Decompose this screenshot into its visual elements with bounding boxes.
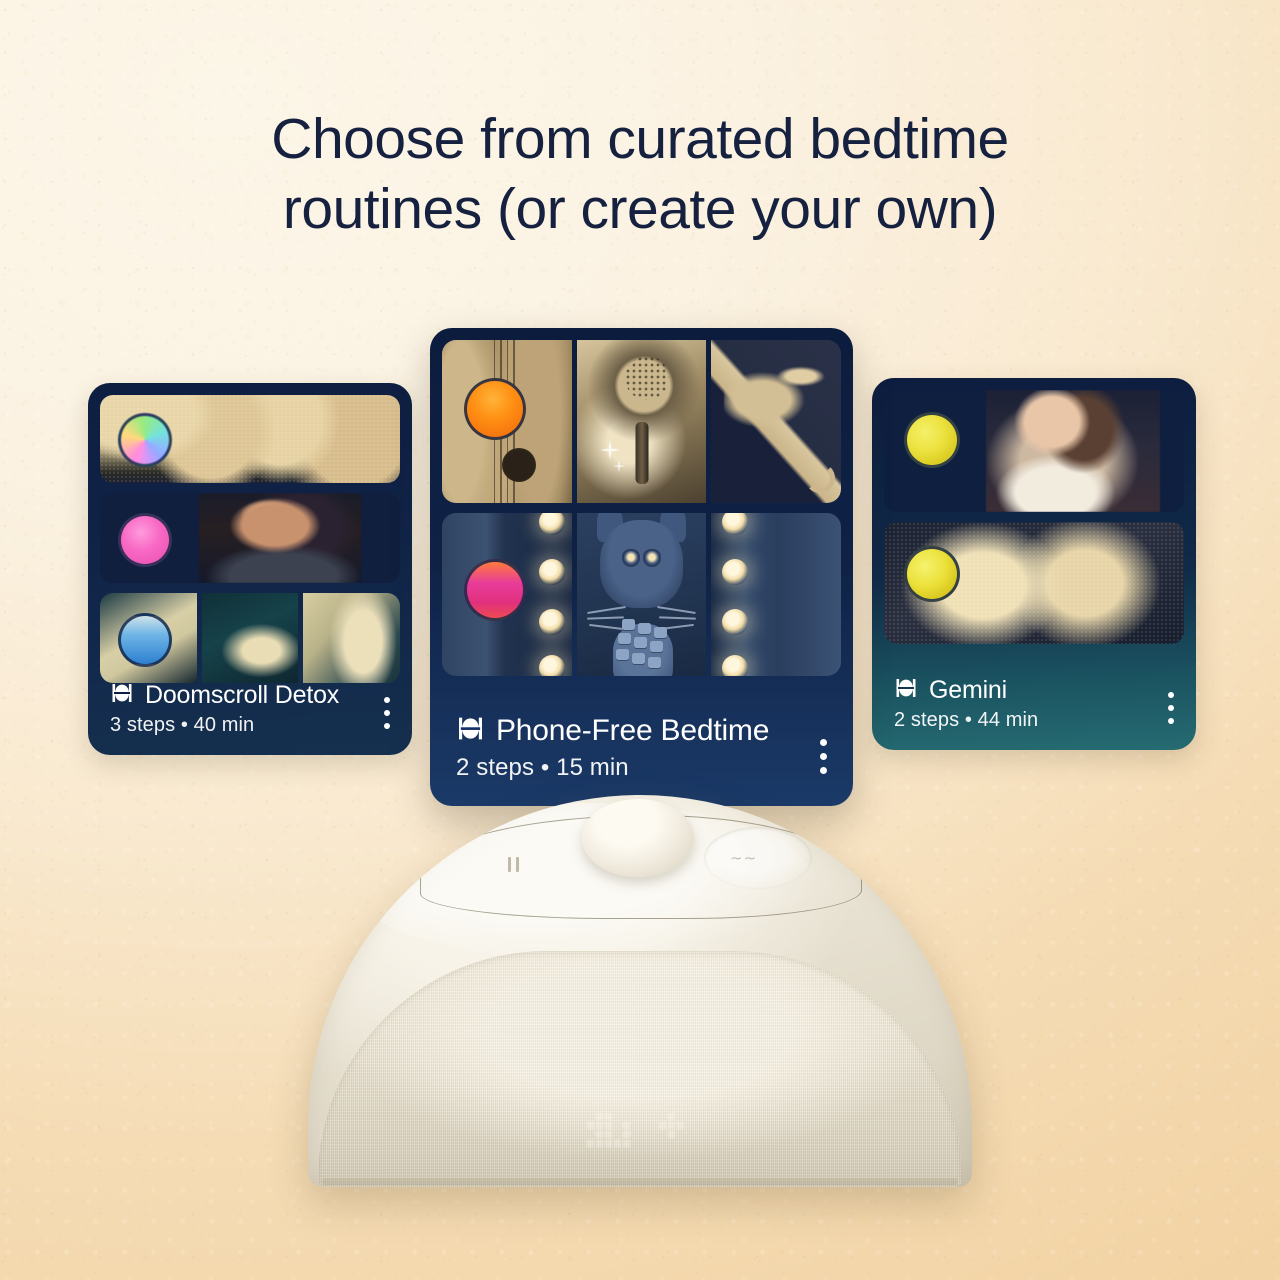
kebab-dot bbox=[1168, 718, 1174, 724]
artwork-row-music bbox=[442, 340, 841, 503]
card-footer: Doomscroll Detox 3 steps • 40 min bbox=[88, 681, 412, 755]
kebab-dot bbox=[384, 710, 390, 716]
card-title-row: Doomscroll Detox bbox=[110, 681, 390, 710]
artwork-tile-person-photo bbox=[884, 390, 1184, 512]
linen-fabric-grille bbox=[318, 951, 962, 1187]
card-footer: Phone-Free Bedtime 2 steps • 15 min bbox=[430, 714, 853, 806]
card-title-row: Gemini bbox=[894, 676, 1174, 705]
card-footer: Gemini 2 steps • 44 min bbox=[872, 676, 1196, 750]
cat-head bbox=[600, 520, 683, 608]
card-artwork-tiles bbox=[872, 378, 1196, 656]
artwork-tile-portrait bbox=[100, 493, 400, 583]
artwork-row-cat bbox=[442, 513, 841, 676]
dot-matrix-display bbox=[578, 1113, 702, 1147]
kebab-menu-icon[interactable] bbox=[384, 697, 390, 729]
artwork-row-person bbox=[884, 390, 1184, 512]
speaker-base-edge bbox=[322, 1178, 958, 1185]
accent-dot-blue bbox=[118, 613, 172, 667]
heart-sunglasses-icon bbox=[622, 549, 662, 567]
accent-dot-pink bbox=[118, 513, 172, 567]
artwork-tile-abstract-3 bbox=[303, 593, 400, 683]
card-artwork-tiles bbox=[430, 328, 853, 688]
card-title: Doomscroll Detox bbox=[145, 681, 339, 710]
card-title: Gemini bbox=[929, 676, 1007, 705]
card-meta: 3 steps • 40 min bbox=[110, 714, 390, 737]
artwork-tile-honey-drip bbox=[100, 395, 400, 483]
card-meta: 2 steps • 15 min bbox=[456, 754, 827, 782]
kebab-dot bbox=[820, 767, 827, 774]
artwork-tile-cat bbox=[577, 513, 707, 676]
headline-line-2: routines (or create your own) bbox=[0, 174, 1280, 244]
artwork-tile-abstract-1 bbox=[100, 593, 197, 683]
kebab-dot bbox=[384, 697, 390, 703]
bedside-smart-speaker: ∼∼ bbox=[308, 795, 972, 1187]
page-headline: Choose from curated bedtime routines (or… bbox=[0, 104, 1280, 244]
artwork-row-swirl bbox=[884, 522, 1184, 644]
artwork-tile-abstract-2 bbox=[202, 593, 299, 683]
vanity-bulbs bbox=[534, 513, 570, 676]
keyboard-keys bbox=[616, 617, 660, 676]
google-home-icon bbox=[110, 681, 134, 710]
headline-line-1: Choose from curated bedtime bbox=[0, 104, 1280, 174]
card-meta: 2 steps • 44 min bbox=[894, 709, 1174, 732]
artwork-tile-bird bbox=[711, 340, 841, 503]
fabric-weave-horizontal bbox=[318, 951, 962, 1187]
person-photo bbox=[986, 390, 1160, 512]
snooze-icon[interactable]: ∼∼ bbox=[704, 827, 812, 889]
artwork-tile-vanity-lights-left bbox=[442, 513, 572, 676]
kebab-dot bbox=[1168, 692, 1174, 698]
routine-card-phone-free-bedtime[interactable]: Phone-Free Bedtime 2 steps • 15 min bbox=[430, 328, 853, 806]
routine-card-doomscroll-detox[interactable]: Doomscroll Detox 3 steps • 40 min bbox=[88, 383, 412, 755]
accent-dot-yellow bbox=[904, 412, 960, 468]
routine-card-gemini[interactable]: Gemini 2 steps • 44 min bbox=[872, 378, 1196, 750]
vanity-bulbs bbox=[717, 513, 753, 676]
kebab-dot bbox=[820, 753, 827, 760]
artwork-tile-light-swirl bbox=[884, 522, 1184, 644]
accent-dot-iridescent bbox=[118, 413, 172, 467]
microphone-grille bbox=[625, 356, 669, 400]
artwork-row-portrait bbox=[100, 493, 400, 583]
portrait-photo bbox=[199, 493, 361, 583]
artwork-row-honey bbox=[100, 395, 400, 483]
accent-dot-yellow-2 bbox=[904, 546, 960, 602]
kebab-dot bbox=[384, 723, 390, 729]
artwork-tile-microphone bbox=[577, 340, 707, 503]
kebab-dot bbox=[820, 739, 827, 746]
artwork-tile-guitar bbox=[442, 340, 572, 503]
sparkle-icon bbox=[610, 457, 628, 475]
speaker-body: ∼∼ bbox=[308, 795, 972, 1187]
kebab-menu-icon[interactable] bbox=[1168, 692, 1174, 724]
speaker-top-knob[interactable] bbox=[582, 799, 694, 877]
card-title-row: Phone-Free Bedtime bbox=[456, 714, 827, 748]
accent-dot-magenta bbox=[464, 559, 526, 621]
pause-icon[interactable] bbox=[508, 857, 524, 872]
google-home-icon bbox=[456, 714, 485, 748]
google-home-icon bbox=[894, 676, 918, 705]
card-artwork-tiles bbox=[88, 383, 412, 695]
artwork-row-abstract bbox=[100, 593, 400, 683]
microphone-stem bbox=[635, 422, 648, 484]
artwork-tile-vanity-lights-right bbox=[711, 513, 841, 676]
cup-handle-shape bbox=[805, 463, 835, 493]
card-title: Phone-Free Bedtime bbox=[496, 714, 769, 748]
bird-shape bbox=[724, 353, 825, 431]
kebab-dot bbox=[1168, 705, 1174, 711]
accent-dot-orange bbox=[464, 378, 526, 440]
guitar-soundhole bbox=[502, 448, 536, 482]
kebab-menu-icon[interactable] bbox=[820, 739, 827, 774]
